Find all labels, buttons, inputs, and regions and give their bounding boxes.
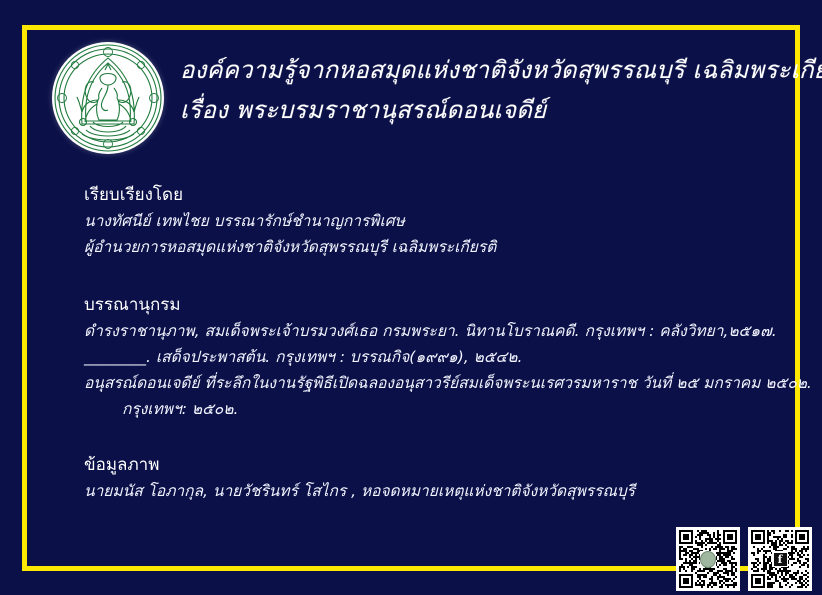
poster-root: องค์ความรู้จากหอสมุดแห่งชาติจังหวัดสุพรร… — [0, 0, 822, 595]
author-line: ผู้อำนวยการหอสมุดแห่งชาติจังหวัดสุพรรณบุ… — [84, 234, 496, 260]
page-title-line-2: เรื่อง พระบรมราชานุสรณ์ดอนเจดีย์ — [180, 90, 822, 130]
bibliography-entry: อนุสรณ์ดอนเจดีย์ ที่ระลึกในงานรัฐพิธีเปิ… — [84, 370, 812, 396]
image-credit-line: นายมนัส โอภากุล, นายวัชรินทร์ โสไกร , หอ… — [84, 478, 635, 504]
author-heading: เรียบเรียงโดย — [84, 182, 496, 208]
poster-content: องค์ความรู้จากหอสมุดแห่งชาติจังหวัดสุพรร… — [0, 0, 822, 595]
image-credit-block: ข้อมูลภาพ นายมนัส โอภากุล, นายวัชรินทร์ … — [84, 452, 635, 504]
ganesha-emblem-icon — [52, 42, 164, 154]
facebook-icon: f — [772, 551, 788, 567]
qr-code-group: f — [676, 527, 812, 591]
facebook-glyph: f — [774, 553, 787, 566]
author-block: เรียบเรียงโดย นางทัศนีย์ เทพไชย บรรณารัก… — [84, 182, 496, 260]
bibliography-entry: ดำรงราชานุภาพ, สมเด็จพระเจ้าบรมวงศ์เธอ ก… — [84, 318, 812, 344]
page-title-line-1: องค์ความรู้จากหอสมุดแห่งชาติจังหวัดสุพรร… — [180, 50, 822, 90]
bibliography-heading: บรรณานุกรม — [84, 292, 812, 318]
bibliography-entry: ________. เสด็จประพาสต้น. กรุงเทพฯ : บรร… — [84, 344, 812, 370]
qr-code-library[interactable] — [676, 527, 740, 591]
poster-header: องค์ความรู้จากหอสมุดแห่งชาติจังหวัดสุพรร… — [52, 42, 782, 154]
author-line: นางทัศนีย์ เทพไชย บรรณารักษ์ชำนาญการพิเศ… — [84, 208, 496, 234]
qr-code-facebook[interactable]: f — [748, 527, 812, 591]
bibliography-entry: กรุงเทพฯ: ๒๕๐๒. — [84, 396, 812, 422]
seal-logo-icon — [700, 551, 716, 567]
bibliography-block: บรรณานุกรม ดำรงราชานุภาพ, สมเด็จพระเจ้าบ… — [84, 292, 812, 422]
image-credit-heading: ข้อมูลภาพ — [84, 452, 635, 478]
header-title-group: องค์ความรู้จากหอสมุดแห่งชาติจังหวัดสุพรร… — [180, 42, 822, 130]
